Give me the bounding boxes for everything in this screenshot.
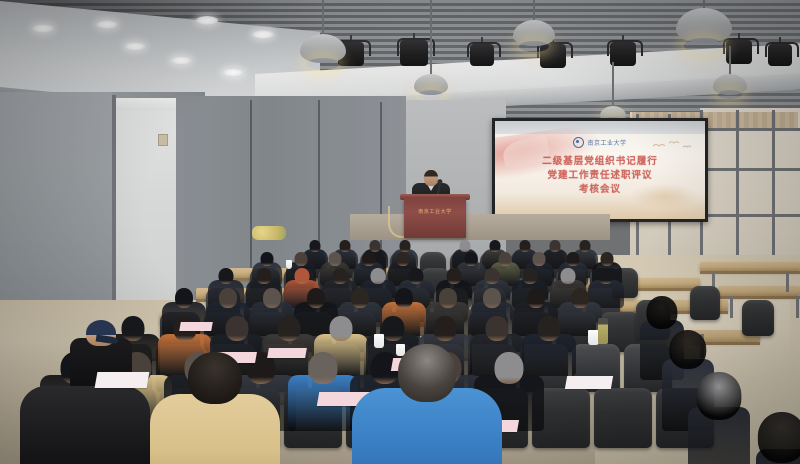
attendee-head	[486, 316, 509, 341]
attendee-head	[571, 288, 589, 308]
attendee-head	[340, 240, 351, 252]
wall-socket	[158, 134, 168, 146]
attendee-head	[523, 268, 538, 284]
attendee-head	[309, 352, 338, 384]
attendee-head	[646, 296, 677, 329]
attendee-head	[439, 288, 457, 308]
attendee-head	[567, 252, 580, 266]
downlight-3	[124, 42, 146, 51]
desk-leg-2	[786, 272, 789, 292]
attendee-head	[669, 330, 706, 369]
podium: 南京工业大学	[404, 198, 466, 238]
attendee-head	[599, 268, 614, 284]
attendee-head	[495, 352, 524, 384]
attendee-head	[295, 268, 310, 284]
attendee-head	[310, 240, 321, 252]
university-seal-icon	[573, 137, 584, 148]
attendee-head	[533, 252, 546, 266]
organization-logo-text: 南京工业大学	[587, 138, 626, 147]
attendee-head	[175, 288, 193, 308]
attendee-head	[550, 240, 561, 252]
attendee-head	[370, 240, 381, 252]
screen-birds-icon	[651, 139, 695, 151]
cup-1	[374, 334, 384, 348]
empty-chair-2	[690, 286, 720, 320]
attendee-head	[363, 252, 376, 266]
cup-3	[286, 260, 292, 269]
attendee-head	[520, 240, 531, 252]
attendee-head	[307, 288, 325, 308]
attendee-head	[122, 316, 145, 341]
screen-title-line-1: 二级基层党组织书记履行	[495, 155, 705, 169]
attendee-head	[382, 316, 405, 341]
screen-top-band	[495, 121, 705, 134]
paper-white-1	[95, 372, 150, 388]
attendee-head	[330, 316, 353, 341]
desk-aisle-1-edge	[700, 271, 800, 274]
downlight-5	[222, 68, 244, 77]
spotlight-3	[470, 44, 494, 66]
desk-leg-3	[730, 296, 733, 318]
attendee-head	[398, 344, 456, 402]
attendee-head	[371, 268, 386, 284]
paper-white-2	[565, 376, 613, 389]
attendee-head	[561, 268, 576, 284]
attendee-head	[490, 240, 501, 252]
attendee-head	[538, 316, 561, 341]
tumbler-bottle	[598, 318, 608, 344]
attendee-head	[758, 412, 800, 463]
paper-pink-6	[179, 322, 213, 331]
flower-arrangement	[252, 226, 286, 240]
attendee-head	[447, 268, 462, 284]
attendee-head	[261, 252, 274, 266]
attendee-head	[601, 252, 614, 266]
attendee-head	[434, 316, 457, 341]
attendee-head	[351, 288, 369, 308]
downlight-4	[170, 56, 192, 65]
attendee-head	[465, 252, 478, 266]
desk-leg-4	[796, 296, 799, 318]
podium-plate-text: 南京工业大学	[404, 208, 466, 215]
attendee-head	[188, 352, 242, 404]
attendee-head	[580, 240, 591, 252]
downlight-2	[96, 20, 118, 29]
spotlight-7	[768, 44, 792, 66]
attendee-head	[295, 252, 308, 266]
screen-title-line-2: 党建工作责任述职评议	[495, 169, 705, 183]
projection-screen: 南京工业大学 二级基层党组织书记履行 党建工作责任述职评议 考核会议	[495, 121, 705, 219]
attendee-head	[219, 268, 234, 284]
desk-aisle-1	[700, 262, 800, 271]
attendee-head	[226, 316, 249, 341]
seat-r6-c10	[594, 388, 652, 448]
attendee-head	[257, 268, 272, 284]
attendee-head	[400, 240, 411, 252]
attendee-head	[485, 268, 500, 284]
attendee-head	[499, 252, 512, 266]
attendee-head	[278, 316, 301, 341]
attendee-head	[527, 288, 545, 308]
conference-hall-photo: 南京工业大学 二级基层党组织书记履行 党建工作责任述职评议 考核会议 南京工业大…	[0, 0, 800, 464]
attendee-head	[409, 268, 424, 284]
attendee-torso	[20, 386, 150, 464]
attendee-torso	[150, 394, 280, 464]
paper-pink-2	[267, 348, 307, 358]
attendee-head	[219, 288, 237, 308]
attendee-head	[397, 252, 410, 266]
speaker-head	[424, 170, 438, 186]
attendee-head	[460, 240, 471, 252]
empty-chair-3	[742, 300, 774, 336]
downlight-7	[196, 16, 218, 25]
attendee-head	[329, 252, 342, 266]
attendee-head	[333, 268, 348, 284]
attendee-head	[483, 288, 501, 308]
attendee-head	[263, 288, 281, 308]
downlight-6	[252, 30, 274, 39]
wall-white-column-top	[116, 98, 176, 110]
downlight-1	[32, 24, 54, 33]
attendee-head	[696, 372, 741, 420]
spotlight-2	[400, 40, 428, 66]
attendee-head	[395, 288, 413, 308]
